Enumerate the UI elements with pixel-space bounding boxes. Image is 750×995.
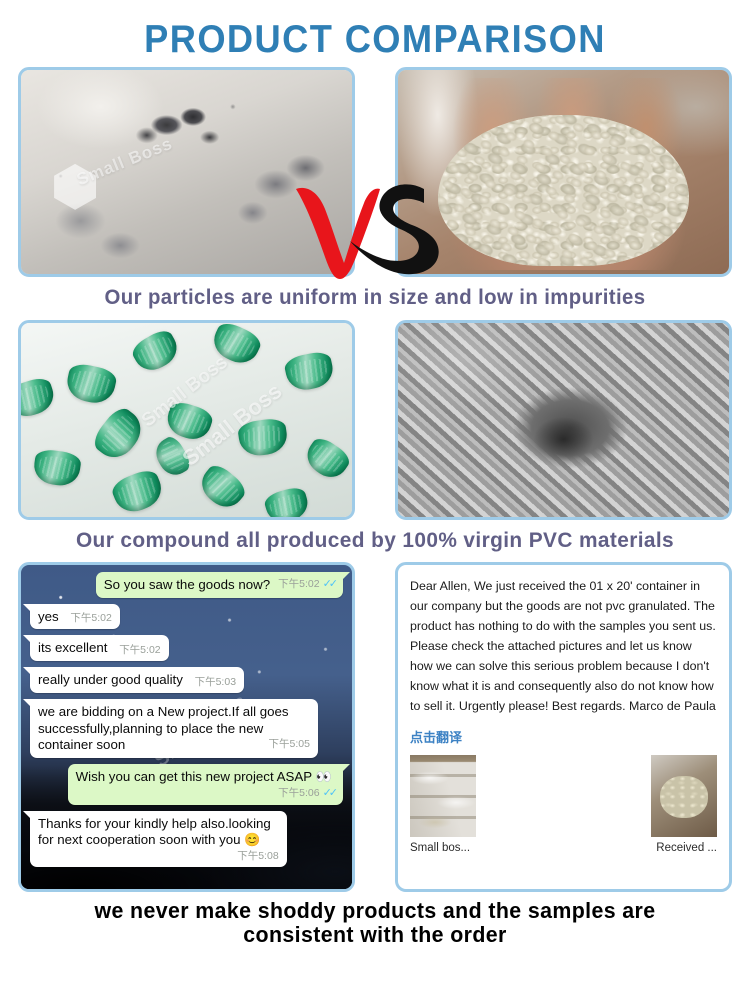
chat-message-row: So you saw the goods now? 下午5:02 ✓✓ xyxy=(30,572,343,598)
pellet-pile-shape xyxy=(438,115,690,266)
footer-caption-line-2: consistent with the order xyxy=(50,923,700,948)
green-pvc-pellets-photo: Small Boss Small Boss xyxy=(18,320,355,520)
footer-caption: we never make shoddy products and the sa… xyxy=(11,892,739,954)
chat-bubble-incoming[interactable]: its excellent 下午5:02 xyxy=(30,635,169,661)
complaint-email: Dear Allen, We just received the 01 x 20… xyxy=(395,562,732,892)
chat-message-text: So you saw the goods now? xyxy=(104,577,270,592)
page-title: PRODUCT COMPARISON xyxy=(26,0,724,67)
attachment-item[interactable]: Small bos... xyxy=(410,755,476,854)
chat-message-text: Wish you can get this new project ASAP xyxy=(76,769,312,784)
attachment-thumbnail[interactable] xyxy=(410,755,476,837)
caption-row-2: Our compound all produced by 100% virgin… xyxy=(11,520,739,562)
chat-message-text: we are bidding on a New project.If all g… xyxy=(38,704,289,753)
footer-caption-line-1: we never make shoddy products and the sa… xyxy=(50,899,700,924)
chat-message-row: yes 下午5:02 xyxy=(30,604,343,630)
green-pellets-image-art xyxy=(21,323,352,517)
chat-message-row: Wish you can get this new project ASAP 👀… xyxy=(30,764,343,805)
chat-message-row: really under good quality 下午5:03 xyxy=(30,667,343,693)
email-body-text: Dear Allen, We just received the 01 x 20… xyxy=(410,576,717,717)
chat-message-meta: 下午5:06 ✓✓ xyxy=(278,787,335,801)
granules-image-art xyxy=(21,70,352,274)
chat-message-text: yes xyxy=(38,609,59,624)
chat-bubble-incoming[interactable]: really under good quality 下午5:03 xyxy=(30,667,244,693)
smiling-face-emoji-icon: 😊 xyxy=(244,832,260,847)
grey-recycled-scrap-photo xyxy=(395,320,732,520)
attachment-item[interactable]: Received ... xyxy=(651,755,717,854)
chat-timestamp: 下午5:03 xyxy=(195,676,236,689)
our-granules-photo: Small Boss xyxy=(18,67,355,277)
grey-scrap-image-art xyxy=(398,323,729,517)
translate-link[interactable]: 点击翻译 xyxy=(410,727,717,746)
bags-in-container-image-art xyxy=(410,755,476,837)
comparison-row-1: Small Boss xyxy=(0,67,750,277)
attachment-thumbnail[interactable] xyxy=(651,755,717,837)
hand-with-pellets-image-art xyxy=(651,755,717,837)
comparison-row-3: So you saw the goods now? 下午5:02 ✓✓ yes … xyxy=(0,562,750,892)
caption-row-1: Our particles are uniform in size and lo… xyxy=(11,277,739,320)
attachment-label: Small bos... xyxy=(410,842,470,854)
chat-timestamp: 下午5:02 xyxy=(119,644,160,657)
chat-message-text: Thanks for your kindly help also.looking… xyxy=(38,816,271,848)
email-attachments: Small bos... Received ... xyxy=(410,755,717,854)
attachment-label: Received ... xyxy=(656,842,717,854)
read-receipt-icon: ✓✓ xyxy=(323,787,335,801)
chat-message-row: we are bidding on a New project.If all g… xyxy=(30,699,343,758)
eyes-emoji-icon: 👀 xyxy=(316,769,332,784)
read-receipt-icon: ✓✓ xyxy=(323,578,335,592)
chat-message-text: its excellent xyxy=(38,640,107,655)
chat-timestamp: 下午5:06 xyxy=(278,787,319,800)
chat-timestamp: 下午5:05 xyxy=(269,738,310,751)
chat-message-text: really under good quality xyxy=(38,672,183,687)
chat-message-meta: 下午5:02 ✓✓ xyxy=(278,578,335,592)
chat-bubble-outgoing[interactable]: Wish you can get this new project ASAP 👀… xyxy=(68,764,343,805)
chat-timestamp: 下午5:02 xyxy=(278,578,319,591)
chat-message-row: its excellent 下午5:02 xyxy=(30,635,343,661)
chat-timestamp: 下午5:08 xyxy=(237,850,278,863)
whatsapp-conversation[interactable]: So you saw the goods now? 下午5:02 ✓✓ yes … xyxy=(18,562,355,892)
chat-bubble-incoming[interactable]: yes 下午5:02 xyxy=(30,604,120,630)
chat-timestamp: 下午5:02 xyxy=(70,612,111,625)
hand-pellets-image-art xyxy=(398,70,729,274)
chat-bubble-incoming[interactable]: Thanks for your kindly help also.looking… xyxy=(30,811,287,868)
competitor-pellets-photo xyxy=(395,67,732,277)
chat-message-row: Thanks for your kindly help also.looking… xyxy=(30,811,343,868)
comparison-row-2: Small Boss Small Boss xyxy=(0,320,750,520)
chat-bubble-outgoing[interactable]: So you saw the goods now? 下午5:02 ✓✓ xyxy=(96,572,343,598)
chat-bubble-incoming[interactable]: we are bidding on a New project.If all g… xyxy=(30,699,318,758)
